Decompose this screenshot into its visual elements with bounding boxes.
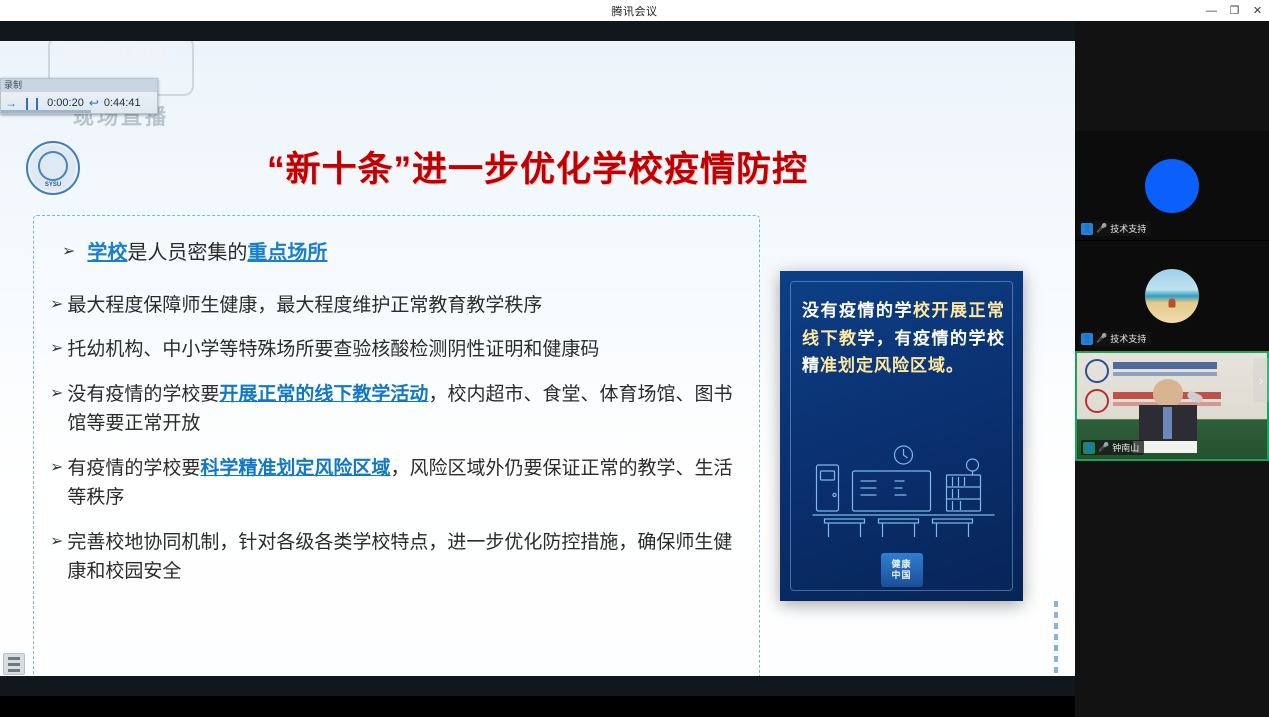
close-button[interactable]: ✕ bbox=[1246, 0, 1269, 21]
participant-name-bar: 👤 🎤 技术支持 bbox=[1079, 221, 1151, 236]
bullet-item: ➢ 学校是人员密集的重点场所 bbox=[50, 238, 743, 269]
bullet-text: 完善校地协同机制，针对各级各类学校特点，进一步优化防控措施，确保师生健康和校园安… bbox=[67, 528, 743, 587]
bullet-text: 托幼机构、中小学等特殊场所要查验核酸检测阴性证明和健康码 bbox=[67, 335, 743, 364]
bullet-highlight: 重点场所 bbox=[247, 242, 327, 264]
bullet-text: 最大程度保障师生健康，最大程度维护正常教育教学秩序 bbox=[67, 291, 743, 320]
forward-icon[interactable]: → bbox=[5, 96, 17, 110]
healthy-china-badge: 健康 中国 bbox=[881, 553, 923, 587]
participant-name-bar: 👤 🎤 钟南山 bbox=[1081, 440, 1144, 455]
bullet-item: ➢ 完善校地协同机制，针对各级各类学校特点，进一步优化防控措施，确保师生健康和校… bbox=[50, 528, 743, 587]
poster-text: 没有疫情的学校开展正常线下教学，有疫情的学校精准划定风险区域。 bbox=[802, 297, 1005, 380]
participant-tile-1[interactable]: 👤 🎤 技术支持 bbox=[1075, 131, 1269, 241]
pause-icon[interactable]: ❙❙ bbox=[22, 96, 42, 110]
bullet-highlight: 学校 bbox=[87, 242, 127, 264]
bullet-item: ➢ 有疫情的学校要科学精准划定风险区域，风险区域外仍要保证正常的教学、生活等秩序 bbox=[50, 454, 743, 513]
recording-elapsed-time: 0:00:20 bbox=[47, 97, 84, 109]
window-controls: — ❐ ✕ bbox=[1200, 0, 1269, 21]
list-icon[interactable] bbox=[3, 653, 25, 675]
bullet-text: 有疫情的学校要科学精准划定风险区域，风险区域外仍要保证正常的教学、生活等秩序 bbox=[67, 454, 743, 513]
bullet-plain: 是人员密集的 bbox=[127, 242, 247, 264]
recording-total-time: 0:44:41 bbox=[104, 97, 141, 109]
person-icon: 👤 bbox=[1081, 333, 1093, 345]
badge-line-2: 中国 bbox=[891, 570, 911, 581]
bullet-plain: 有疫情的学校要 bbox=[67, 458, 200, 479]
bullet-highlight: 科学精准划定风险区域 bbox=[200, 458, 390, 479]
bullet-arrow-icon: ➢ bbox=[62, 238, 87, 265]
bullet-plain: 没有疫情的学校要 bbox=[67, 384, 219, 405]
classroom-illustration-icon bbox=[808, 443, 999, 543]
bullet-item: ➢ 托幼机构、中小学等特殊场所要查验核酸检测阴性证明和健康码 bbox=[50, 335, 743, 364]
slide-title: “新十条”进一步优化学校疫情防控 bbox=[0, 141, 1075, 192]
health-poster-card: 没有疫情的学校开展正常线下教学，有疫情的学校精准划定风险区域。 bbox=[780, 271, 1023, 601]
rewind-icon[interactable]: ↩ bbox=[89, 96, 99, 110]
bullet-arrow-icon: ➢ bbox=[50, 528, 67, 555]
window-title-bar: 腾讯会议 — ❐ ✕ bbox=[0, 0, 1269, 21]
window-title: 腾讯会议 bbox=[612, 3, 658, 19]
participant-tile-3[interactable]: 👤 🎤 钟南山 bbox=[1075, 351, 1269, 461]
participant-name: 技术支持 bbox=[1110, 222, 1146, 235]
recording-label: 录制 bbox=[1, 79, 157, 92]
recording-progress-bar[interactable] bbox=[1, 110, 91, 113]
microphone-muted-icon: 🎤 bbox=[1096, 223, 1107, 234]
slide-content-box: ➢ 学校是人员密集的重点场所 ➢ 最大程度保障师生健康，最大程度维护正常教育教学… bbox=[33, 215, 760, 676]
person-icon: 👤 bbox=[1083, 442, 1095, 454]
next-page-chevron-icon[interactable]: › bbox=[1253, 358, 1269, 402]
bullet-arrow-icon: ➢ bbox=[50, 291, 67, 318]
participant-name-bar: 👤 🎤 技术支持 bbox=[1079, 331, 1151, 346]
participant-name: 钟南山 bbox=[1112, 441, 1139, 454]
participant-rail: 👤 🎤 全国高校抗疫大讲堂 👤 🎤 技术支持 👤 🎤 技术支持 bbox=[1075, 21, 1269, 717]
shared-screen-region: SYSUTV 现场直播 SYSU “新十条”进一步优化学校疫情防控 ➢ 学校是人… bbox=[0, 21, 1075, 696]
bullet-arrow-icon: ➢ bbox=[50, 380, 67, 407]
recording-overlay[interactable]: 录制 → ❙❙ 0:00:20 ↩ 0:44:41 bbox=[0, 78, 158, 114]
bullet-text: 学校是人员密集的重点场所 bbox=[87, 238, 743, 269]
badge-line-1: 健康 bbox=[891, 559, 911, 570]
bullet-text: 没有疫情的学校要开展正常的线下教学活动，校内超市、食堂、体育场馆、图书馆等要正常… bbox=[67, 380, 743, 439]
minimize-button[interactable]: — bbox=[1200, 0, 1223, 21]
participant-name: 技术支持 bbox=[1110, 332, 1146, 345]
bullet-highlight: 开展正常的线下教学活动 bbox=[219, 384, 428, 405]
bullet-item: ➢ 没有疫情的学校要开展正常的线下教学活动，校内超市、食堂、体育场馆、图书馆等要… bbox=[50, 380, 743, 439]
meeting-window: SYSUTV 现场直播 SYSU “新十条”进一步优化学校疫情防控 ➢ 学校是人… bbox=[0, 21, 1269, 717]
bullet-arrow-icon: ➢ bbox=[50, 335, 67, 362]
avatar bbox=[1145, 159, 1199, 213]
microphone-active-icon: 🎤 bbox=[1098, 442, 1109, 453]
decorative-dots bbox=[1054, 601, 1060, 676]
maximize-button[interactable]: ❐ bbox=[1223, 0, 1246, 21]
presentation-slide: SYSUTV 现场直播 SYSU “新十条”进一步优化学校疫情防控 ➢ 学校是人… bbox=[0, 41, 1075, 676]
bullet-arrow-icon: ➢ bbox=[50, 454, 67, 481]
bullet-item: ➢ 最大程度保障师生健康，最大程度维护正常教育教学秩序 bbox=[50, 291, 743, 320]
poster-line-1: 没有疫情的学 bbox=[802, 301, 913, 320]
participant-tile-2[interactable]: 👤 🎤 技术支持 bbox=[1075, 241, 1269, 351]
poster-line-4: 准划定风险区域。 bbox=[820, 356, 964, 375]
person-icon: 👤 bbox=[1081, 223, 1093, 235]
microphone-muted-icon: 🎤 bbox=[1096, 333, 1107, 344]
avatar bbox=[1145, 269, 1199, 323]
